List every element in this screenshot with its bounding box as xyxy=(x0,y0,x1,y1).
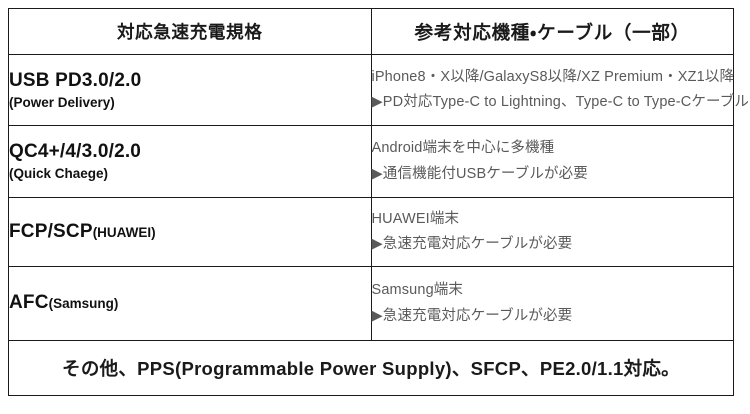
device-line: Android端末を中心に多機種 xyxy=(372,136,734,161)
standard-subtitle: (Quick Chaege) xyxy=(9,165,371,183)
device-line: Samsung端末 xyxy=(372,278,734,303)
standard-subtitle: (HUAWEI) xyxy=(93,225,156,240)
device-line: HUAWEI端末 xyxy=(372,207,734,232)
standard-name: QC4+/4/3.0/2.0 xyxy=(9,140,371,164)
additional-standards-note: その他、PPS(Programmable Power Supply)、SFCP、… xyxy=(9,341,734,396)
cable-requirement-line: ▶急速充電対応ケーブルが必要 xyxy=(372,232,734,257)
table-header: 対応急速充電規格 参考対応機種・ケーブル（一部） xyxy=(9,9,734,55)
table-header-row: 対応急速充電規格 参考対応機種・ケーブル（一部） xyxy=(9,9,734,55)
cable-requirement-line: ▶通信機能付USBケーブルが必要 xyxy=(372,162,734,187)
column-header-devices: 参考対応機種・ケーブル（一部） xyxy=(371,9,734,55)
fast-charging-spec-table: 対応急速充電規格 参考対応機種・ケーブル（一部） USB PD3.0/2.0 (… xyxy=(8,8,734,396)
table-row: AFC(Samsung) Samsung端末 ▶急速充電対応ケーブルが必要 xyxy=(9,267,734,341)
cable-requirement-line: ▶急速充電対応ケーブルが必要 xyxy=(372,304,734,329)
table-row: USB PD3.0/2.0 (Power Delivery) iPhone8・X… xyxy=(9,55,734,126)
standard-subtitle: (Power Delivery) xyxy=(9,94,371,112)
column-header-standard: 対応急速充電規格 xyxy=(9,9,372,55)
standard-subtitle: (Samsung) xyxy=(49,296,119,311)
table-row: FCP/SCP(HUAWEI) HUAWEI端末 ▶急速充電対応ケーブルが必要 xyxy=(9,198,734,267)
standard-name: FCP/SCP xyxy=(9,221,93,242)
cell-standard-qc: QC4+/4/3.0/2.0 (Quick Chaege) xyxy=(9,126,372,198)
standard-name: USB PD3.0/2.0 xyxy=(9,69,371,93)
device-line: iPhone8・X以降/GalaxyS8以降/XZ Premium・XZ1以降 xyxy=(372,65,734,90)
standard-name: AFC xyxy=(9,292,49,313)
cell-devices-fcp-scp: HUAWEI端末 ▶急速充電対応ケーブルが必要 xyxy=(371,198,734,267)
table-row: QC4+/4/3.0/2.0 (Quick Chaege) Android端末を… xyxy=(9,126,734,198)
cell-devices-qc: Android端末を中心に多機種 ▶通信機能付USBケーブルが必要 xyxy=(371,126,734,198)
cell-standard-usb-pd: USB PD3.0/2.0 (Power Delivery) xyxy=(9,55,372,126)
cell-devices-usb-pd: iPhone8・X以降/GalaxyS8以降/XZ Premium・XZ1以降 … xyxy=(371,55,734,126)
table-body: USB PD3.0/2.0 (Power Delivery) iPhone8・X… xyxy=(9,55,734,396)
cell-standard-afc: AFC(Samsung) xyxy=(9,267,372,341)
cell-standard-fcp-scp: FCP/SCP(HUAWEI) xyxy=(9,198,372,267)
cell-devices-afc: Samsung端末 ▶急速充電対応ケーブルが必要 xyxy=(371,267,734,341)
page-root: 対応急速充電規格 参考対応機種・ケーブル（一部） USB PD3.0/2.0 (… xyxy=(0,0,750,414)
cable-requirement-line: ▶PD対応Type-C to Lightning、Type-C to Type-… xyxy=(372,90,734,115)
table-footer-row: その他、PPS(Programmable Power Supply)、SFCP、… xyxy=(9,341,734,396)
